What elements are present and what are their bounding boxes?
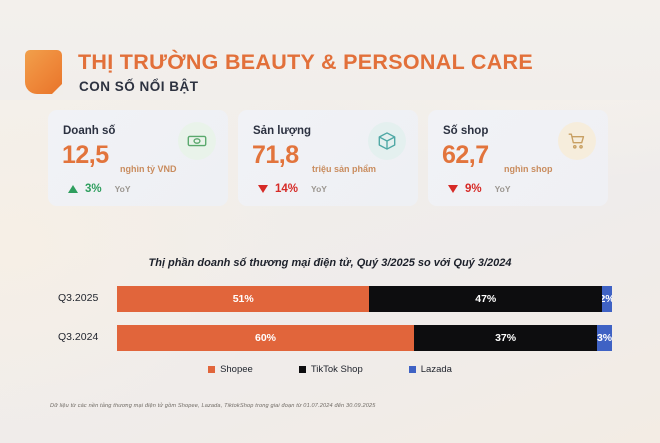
stat-card-delta-value: 14% [275, 183, 298, 195]
stat-card-volume: Sản lượng 71,8 triệu sản phẩm 14% YoY [238, 110, 418, 206]
arrow-up-icon [68, 185, 78, 193]
legend-item-shopee[interactable]: Shopee [208, 364, 253, 375]
stat-card-shops: Số shop 62,7 nghìn shop 9% YoY [428, 110, 608, 206]
chart-title: Thị phần doanh số thương mại điện tử, Qu… [0, 257, 660, 269]
chart-row-q3-2024: Q3.2024 60% 37% 3% [0, 325, 660, 351]
legend-label: Shopee [220, 364, 253, 375]
bar-segment-tiktok-shop[interactable]: 37% [414, 325, 597, 351]
stat-card-label: Doanh số [63, 125, 115, 137]
stat-card-value: 62,7 [442, 143, 489, 168]
stat-card-delta-period: YoY [311, 184, 327, 194]
stacked-bar-track: 51% 47% 2% [117, 286, 612, 312]
page-subtitle: CON SỐ NỔI BẬT [79, 79, 199, 94]
arrow-down-icon [448, 185, 458, 193]
page-title: THỊ TRƯỜNG BEAUTY & PERSONAL CARE [78, 50, 533, 75]
stat-card-delta-period: YoY [115, 184, 131, 194]
stat-card-unit: nghìn shop [504, 164, 553, 174]
chart-row-category: Q3.2024 [58, 331, 114, 343]
legend-item-lazada[interactable]: Lazada [409, 364, 452, 375]
legend-swatch-tiktok-shop [299, 366, 306, 373]
page-header: THỊ TRƯỜNG BEAUTY & PERSONAL CARE CON SỐ… [0, 22, 660, 84]
chart-footnote: Dữ liệu từ các nền tảng thương mại điện … [50, 403, 376, 409]
legend-swatch-lazada [409, 366, 416, 373]
legend-label: Lazada [421, 364, 452, 375]
stat-card-delta-value: 9% [465, 183, 482, 195]
infographic-page: THỊ TRƯỜNG BEAUTY & PERSONAL CARE CON SỐ… [0, 0, 660, 443]
stat-card-revenue: Doanh số 12,5 nghìn tỷ VND 3% YoY [48, 110, 228, 206]
bar-segment-shopee[interactable]: 51% [117, 286, 369, 312]
stat-card-delta-period: YoY [495, 184, 511, 194]
legend-item-tiktok-shop[interactable]: TikTok Shop [299, 364, 363, 375]
stacked-bar-track: 60% 37% 3% [117, 325, 612, 351]
orange-square-mark-icon [25, 50, 62, 94]
chart-legend: Shopee TikTok Shop Lazada [0, 364, 660, 375]
stat-card-unit: triệu sản phẩm [312, 164, 376, 174]
stat-card-label: Sản lượng [253, 125, 311, 137]
package-box-icon [368, 122, 406, 160]
stat-card-delta-value: 3% [85, 183, 102, 195]
legend-swatch-shopee [208, 366, 215, 373]
legend-label: TikTok Shop [311, 364, 363, 375]
bar-segment-tiktok-shop[interactable]: 47% [369, 286, 602, 312]
market-share-chart: Q3.2025 51% 47% 2% Q3.2024 60% 37% 3% [0, 283, 660, 358]
chart-row-category: Q3.2025 [58, 292, 114, 304]
bar-segment-shopee[interactable]: 60% [117, 325, 414, 351]
stat-card-value: 12,5 [62, 143, 109, 168]
banknote-icon [178, 122, 216, 160]
stat-card-label: Số shop [443, 125, 488, 137]
arrow-down-icon [258, 185, 268, 193]
bar-segment-lazada[interactable]: 3% [597, 325, 612, 351]
stat-card-group: Doanh số 12,5 nghìn tỷ VND 3% YoY Sản lư… [48, 110, 618, 206]
bar-segment-lazada[interactable]: 2% [602, 286, 612, 312]
stat-card-delta: 14% YoY [258, 183, 327, 195]
stat-card-delta: 9% YoY [448, 183, 511, 195]
stat-card-delta: 3% YoY [68, 183, 131, 195]
stat-card-unit: nghìn tỷ VND [120, 164, 177, 174]
stat-card-value: 71,8 [252, 143, 299, 168]
shopping-cart-icon [558, 122, 596, 160]
chart-row-q3-2025: Q3.2025 51% 47% 2% [0, 286, 660, 312]
